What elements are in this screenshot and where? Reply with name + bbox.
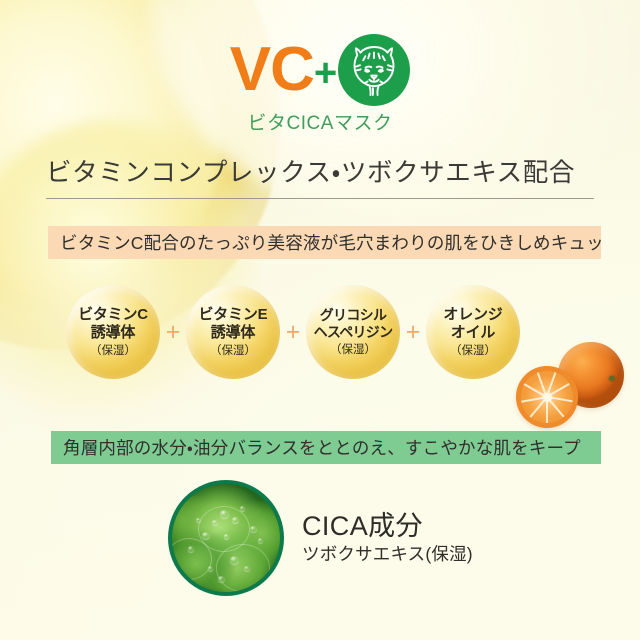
plus-separator-icon-2: +: [280, 320, 306, 345]
cica-text-block: CICA成分 ツボクサエキス(保湿): [302, 512, 473, 565]
vitamin-c-banner: ビタミンC配合のたっぷり美容液が毛穴まわりの肌をひきしめキュッ: [48, 226, 601, 259]
brand-tagline: ビタCICAマスク: [0, 108, 640, 135]
centella-leaves-photo: [168, 480, 284, 596]
bubble-line-2: ヘスペリジン: [314, 324, 393, 341]
plus-separator-icon-1: +: [160, 320, 186, 345]
product-promo-poster: VC +: [0, 0, 640, 640]
page-title: ビタミンコンプレックス・ツボクサエキス配合: [46, 152, 594, 199]
bubble-line-1: ビタミンC: [78, 306, 148, 324]
ingredient-bubble-glycosyl-hesperidin: グリコシル ヘスペリジン （保湿）: [306, 285, 400, 379]
bubble-note: （保湿）: [330, 343, 376, 357]
bubble-note: （保湿）: [450, 344, 496, 358]
orange-stem: [609, 376, 615, 381]
brand-logo-plus: +: [314, 53, 337, 93]
cica-subtitle: ツボクサエキス(保湿): [302, 544, 473, 564]
plus-separator-icon-3: +: [400, 320, 426, 345]
bubble-line-1: ビタミンE: [198, 306, 267, 324]
ingredient-bubble-vitamin-c: ビタミンC 誘導体 （保湿）: [66, 285, 160, 379]
orange-fruit-photo: [500, 338, 634, 430]
bubble-line-1: オレンジ: [443, 306, 502, 324]
bubble-line-1: グリコシル: [320, 307, 387, 324]
cica-title: CICA成分: [302, 512, 473, 542]
halved-orange: [516, 366, 578, 428]
bubble-line-2: 誘導体: [211, 324, 255, 342]
ingredient-bubble-vitamin-e: ビタミンE 誘導体 （保湿）: [186, 285, 280, 379]
cica-section: CICA成分 ツボクサエキス(保湿): [168, 480, 473, 596]
photo-vignette: [172, 484, 280, 592]
barrier-banner: 角層内部の水分・油分バランスをととのえ、すこやかな肌をキープ: [51, 431, 601, 464]
bubble-line-2: オイル: [451, 324, 495, 342]
barrier-banner-text: 角層内部の水分・油分バランスをととのえ、すこやかな肌をキープ: [63, 435, 581, 460]
bubble-line-2: 誘導体: [91, 324, 135, 342]
orange-core: [543, 393, 552, 402]
brand-logo: VC +: [0, 34, 640, 106]
tiger-face-icon: [338, 34, 410, 106]
bubble-note: （保湿）: [90, 344, 136, 358]
vitamin-c-banner-text: ビタミンC配合のたっぷり美容液が毛穴まわりの肌をひきしめキュッ: [60, 230, 604, 255]
bubble-note: （保湿）: [210, 344, 256, 358]
brand-logo-text: VC: [230, 39, 314, 101]
